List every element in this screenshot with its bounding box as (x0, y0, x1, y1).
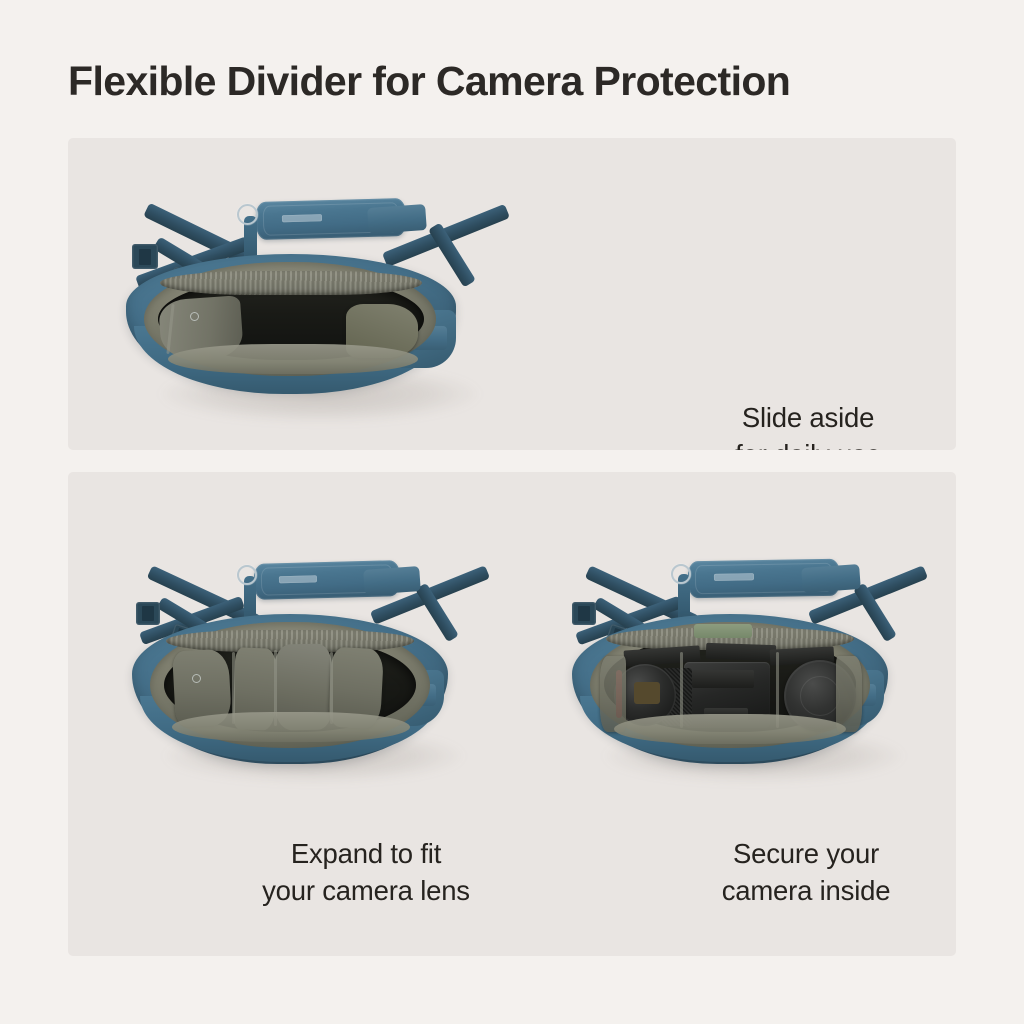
feature-panel-bottom: Expand to fit your camera lens Secure yo… (68, 472, 956, 956)
pad-tail-right (367, 204, 427, 234)
divider-wall-left (600, 656, 626, 732)
buckle-left (132, 244, 158, 269)
elastic-gather (160, 271, 422, 295)
brand-logo-patch (282, 214, 322, 222)
liner-bottom-lip (168, 344, 418, 374)
caption-line-1: Slide aside (643, 400, 956, 437)
caption-expand-to-fit: Expand to fit your camera lens (198, 836, 534, 910)
divider-wall-right (836, 656, 862, 732)
product-feature-page: Flexible Divider for Camera Protection (0, 0, 1024, 1024)
caption-line-1: Secure your (638, 836, 956, 873)
gear-strip-upper-right (706, 643, 777, 661)
caption-slide-aside: Slide aside for daily use (643, 400, 956, 450)
lens-markings (634, 682, 660, 704)
zipper-pull (190, 312, 199, 321)
caption-secure-camera: Secure your camera inside (638, 836, 956, 910)
brand-logo-patch (714, 573, 754, 581)
caption-line-1: Expand to fit (198, 836, 534, 873)
d-ring (671, 564, 691, 584)
page-title: Flexible Divider for Camera Protection (68, 58, 968, 106)
caption-line-2: camera inside (638, 873, 956, 910)
liner-bottom-lip (614, 714, 846, 744)
buckle-left (572, 602, 596, 625)
d-ring (237, 204, 258, 225)
camera-top-plate (692, 670, 754, 688)
caption-line-2: your camera lens (198, 873, 534, 910)
green-accessory (694, 624, 752, 638)
feature-panel-top: Slide aside for daily use (68, 138, 956, 450)
caption-line-2: for daily use (643, 437, 956, 450)
pad-tail-right (801, 564, 861, 593)
